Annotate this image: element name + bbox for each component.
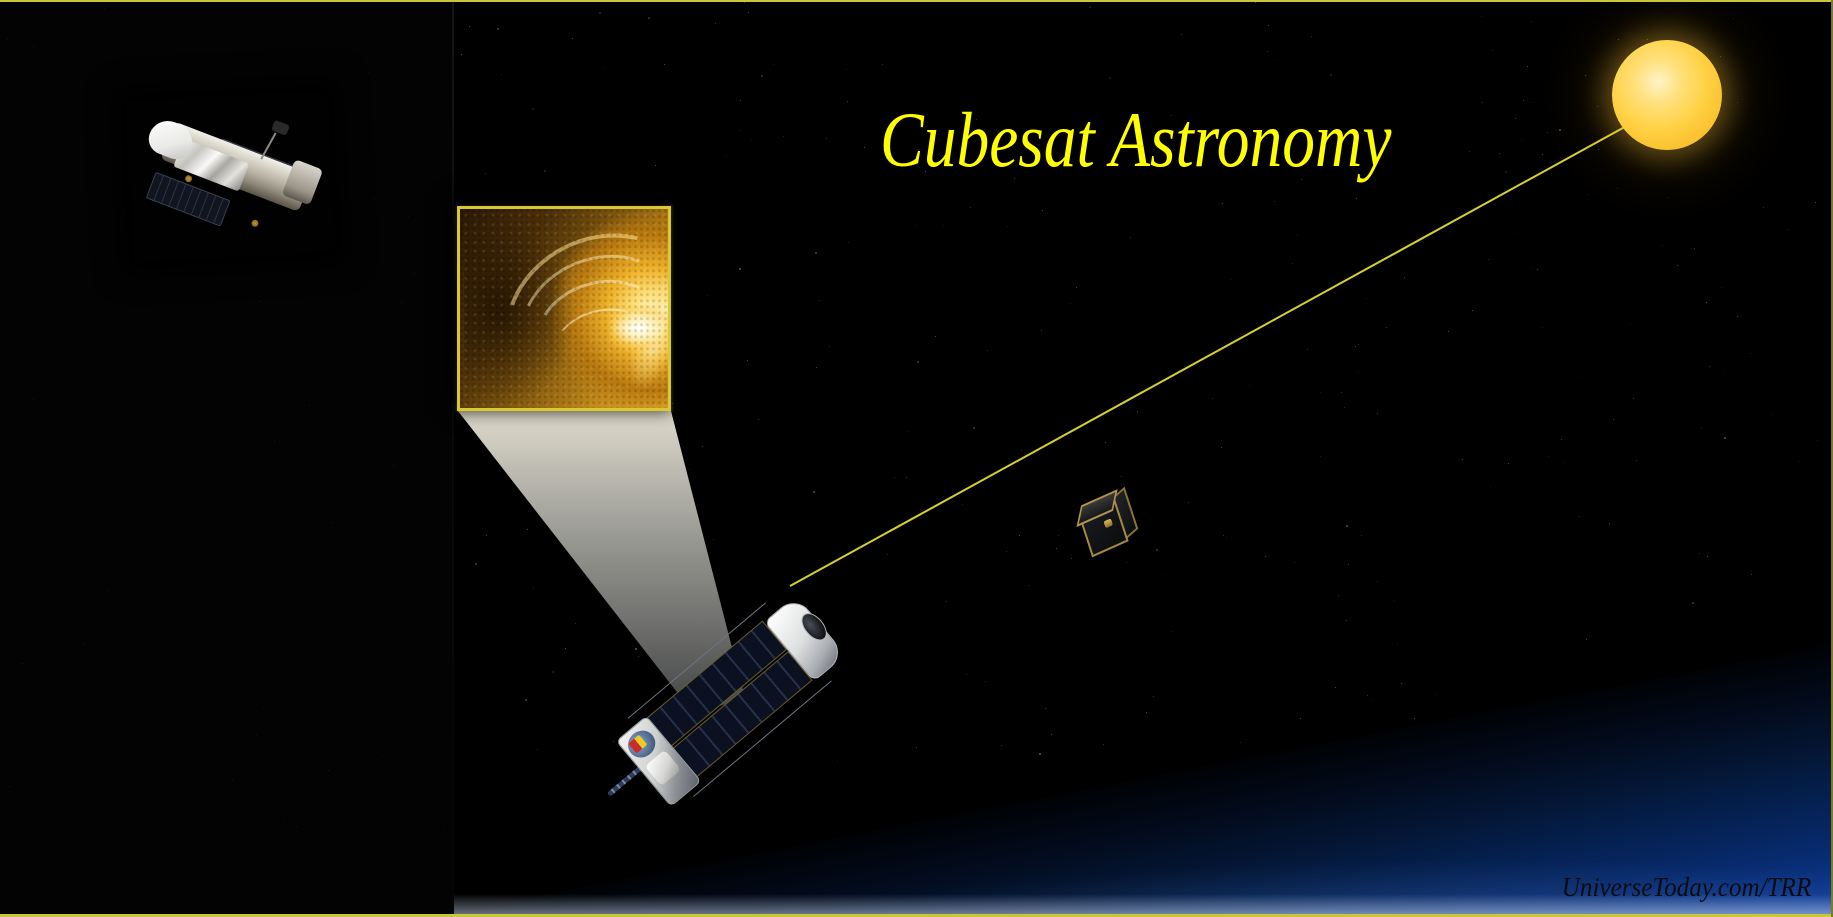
hubble-detail-spot (251, 220, 258, 227)
small-cubesat (1075, 495, 1137, 557)
scene-canvas: Cubesat Astronomy UniverseToday.com/TRR (0, 0, 1833, 917)
credit-watermark: UniverseToday.com/TRR (1562, 872, 1811, 903)
hubble-space-telescope-photo (125, 90, 336, 263)
page-title: Cubesat Astronomy (880, 101, 1391, 179)
sun (1612, 40, 1722, 150)
solar-granulation (460, 209, 668, 408)
solar-corona-inset (457, 206, 671, 411)
frame-top-border (0, 0, 1833, 2)
large-cubesat (610, 600, 850, 800)
hubble-detail-spot (185, 175, 192, 182)
